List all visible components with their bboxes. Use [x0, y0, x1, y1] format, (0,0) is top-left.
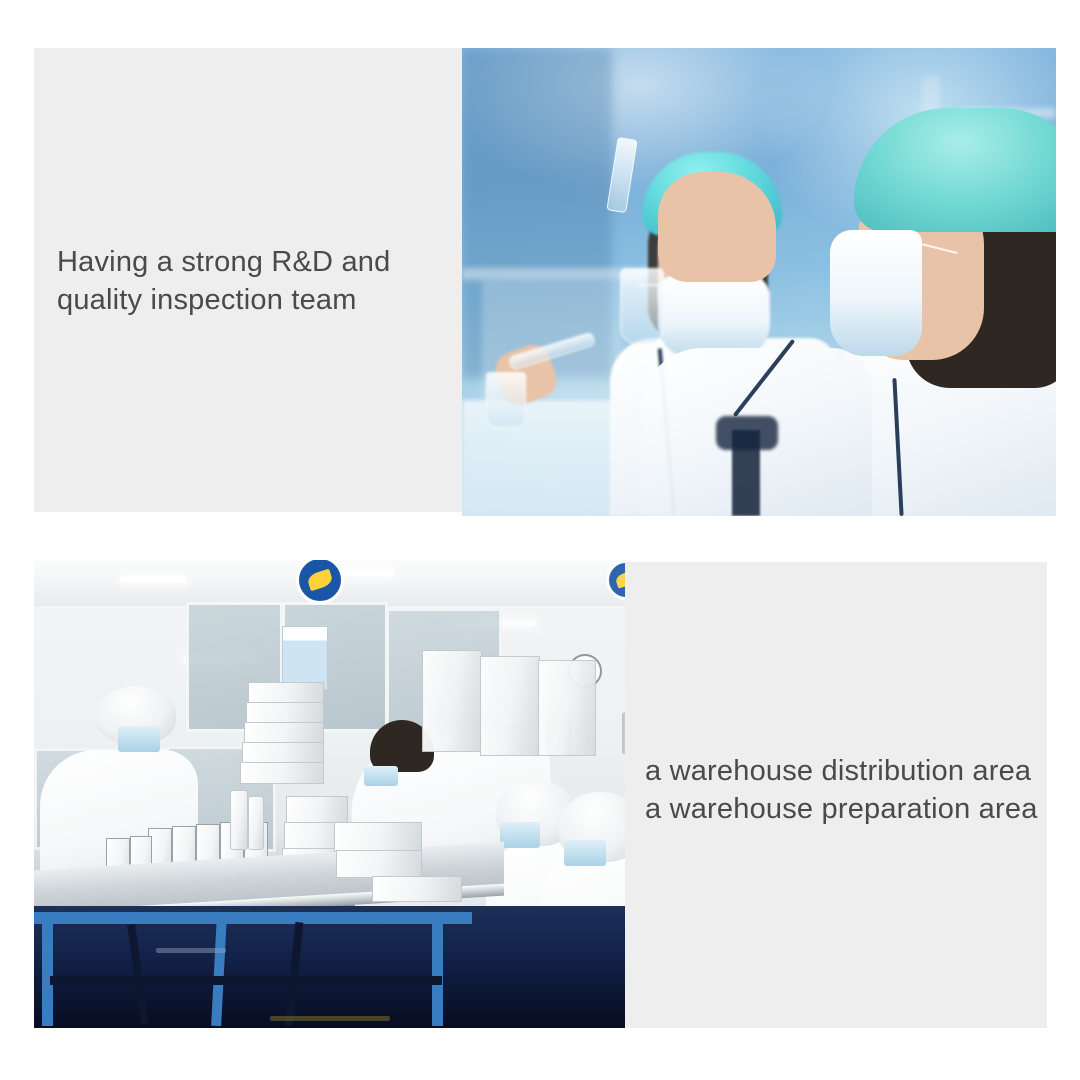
- worker-mask: [564, 840, 606, 866]
- carton: [244, 722, 324, 744]
- carton: [286, 796, 348, 824]
- carton: [372, 876, 462, 902]
- wall-notice-sign: [282, 626, 328, 690]
- table-frame-rail: [34, 912, 472, 924]
- carton: [240, 762, 324, 784]
- carton: [334, 822, 422, 852]
- carton-stack: [422, 650, 482, 752]
- carton: [242, 742, 324, 764]
- bottle: [230, 790, 248, 850]
- infographic-page: Having a strong R&D and quality inspecti…: [0, 0, 1080, 1080]
- beaker: [486, 372, 526, 428]
- ceiling-light: [120, 576, 186, 583]
- bottle: [248, 796, 264, 850]
- sample-vial: [620, 268, 664, 344]
- lab-stand-head: [716, 416, 778, 450]
- carton-stack: [538, 660, 596, 756]
- worker-right-gloved-hand: [658, 172, 776, 282]
- table-leg: [42, 912, 53, 1026]
- warehouse-caption: a warehouse distribution area a warehous…: [645, 752, 1055, 829]
- floor-highlight: [156, 948, 226, 953]
- warehouse-photo: [34, 560, 625, 1028]
- carton: [248, 682, 324, 704]
- rd-quality-caption: Having a strong R&D and quality inspecti…: [57, 243, 457, 320]
- floor-marking: [270, 1016, 390, 1021]
- carton: [246, 702, 324, 724]
- worker-mask: [500, 822, 540, 848]
- table-cross-brace: [50, 976, 442, 985]
- floor: [34, 906, 625, 1028]
- worker-mask: [118, 726, 160, 752]
- carton: [336, 850, 422, 878]
- table-leg: [432, 914, 443, 1026]
- worker-mask: [364, 766, 398, 786]
- worker-right-face-mask: [830, 230, 922, 356]
- worker-left-face-mask: [658, 276, 770, 358]
- canister: [622, 712, 625, 754]
- rd-quality-photo: [462, 48, 1056, 516]
- carton-stack: [480, 656, 540, 756]
